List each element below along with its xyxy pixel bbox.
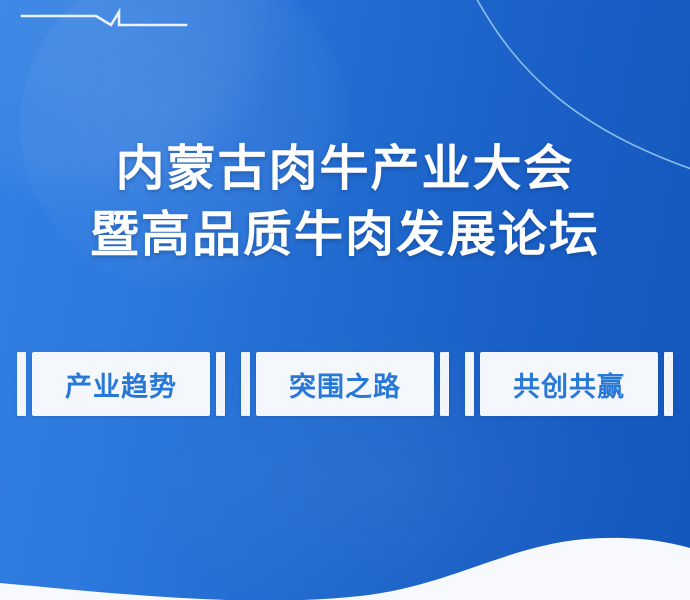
poster-banner: 内蒙古肉牛产业大会 暨高品质牛肉发展论坛 产业趋势 突围之路 共创共赢 <box>0 0 690 600</box>
badge-row: 产业趋势 突围之路 共创共赢 <box>0 352 690 416</box>
badge-left-bar-2 <box>241 352 250 416</box>
bottom-wave-shape <box>0 490 690 600</box>
ecg-line-icon <box>0 0 260 50</box>
badge-right-bar-1 <box>216 352 225 416</box>
badge-right-bar-3 <box>664 352 673 416</box>
badge-box-3[interactable]: 共创共赢 <box>480 352 658 416</box>
poster-title: 内蒙古肉牛产业大会 暨高品质牛肉发展论坛 <box>0 136 690 268</box>
badge-label-1: 产业趋势 <box>65 365 177 404</box>
badge-group-1[interactable]: 产业趋势 <box>17 352 225 416</box>
badge-left-bar-1 <box>17 352 26 416</box>
badge-box-1[interactable]: 产业趋势 <box>32 352 210 416</box>
badge-group-3[interactable]: 共创共赢 <box>465 352 673 416</box>
title-line-2: 暨高品质牛肉发展论坛 <box>0 202 690 268</box>
title-line-1: 内蒙古肉牛产业大会 <box>0 136 690 202</box>
badge-group-2[interactable]: 突围之路 <box>241 352 449 416</box>
badge-label-2: 突围之路 <box>289 365 401 404</box>
badge-right-bar-2 <box>440 352 449 416</box>
badge-box-2[interactable]: 突围之路 <box>256 352 434 416</box>
badge-label-3: 共创共赢 <box>513 365 625 404</box>
badge-left-bar-3 <box>465 352 474 416</box>
